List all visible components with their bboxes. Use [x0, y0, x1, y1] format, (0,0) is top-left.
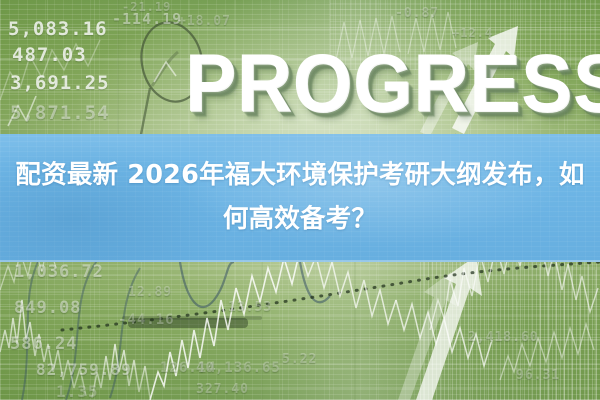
caption-text-block: 配资最新 2026年福大环境保护考研大纲发布，如何高效备考？: [0, 134, 600, 262]
progress-banner: 5,083.16487.033,691.255,871.54-114.19+18…: [0, 0, 600, 400]
caption-headline: 配资最新 2026年福大环境保护考研大纲发布，如何高效备考？: [12, 153, 588, 241]
caption-band: PROGRESS 配资最新 2026年福大环境保护考研大纲发布，如何高效备考？: [0, 134, 600, 262]
